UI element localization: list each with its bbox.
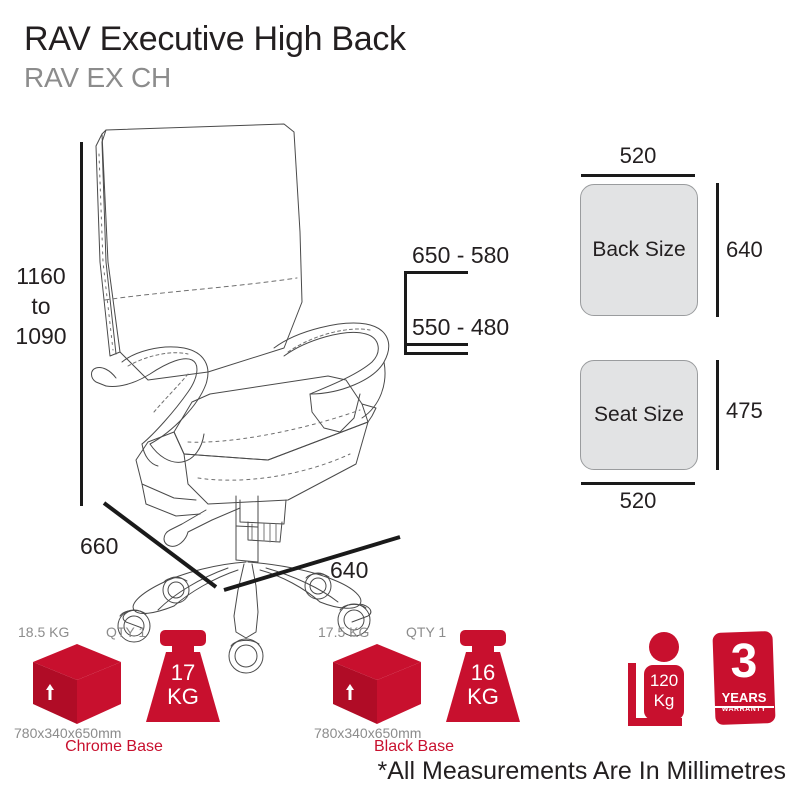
warranty-number: 3 xyxy=(714,638,774,686)
chrome-item-weight-unit: KG xyxy=(140,684,226,710)
model-code: RAV EX CH xyxy=(24,62,171,94)
height-value-line2: to xyxy=(8,293,74,320)
back-size-side-rule xyxy=(716,183,719,317)
black-item-weight-unit: KG xyxy=(440,684,526,710)
seat-size-bottom-dimension: 520 xyxy=(578,488,698,514)
seat-size-box: Seat Size xyxy=(580,360,698,470)
height-dimension-line xyxy=(80,142,83,506)
black-base-name: Black Base xyxy=(314,738,514,756)
seat-size-side-dimension: 475 xyxy=(726,398,763,424)
back-size-top-dimension: 520 xyxy=(578,143,698,169)
back-size-box: Back Size xyxy=(580,184,698,316)
seat-size-bottom-rule xyxy=(581,482,695,485)
seat-back-height-tick xyxy=(404,271,468,274)
seat-size-side-rule xyxy=(716,360,719,470)
seat-back-height-label: 650 - 580 xyxy=(412,242,509,269)
spec-sheet-page: RAV Executive High Back RAV EX CH 1160 t… xyxy=(0,0,800,800)
black-carton-weight: 17.5 KG xyxy=(318,624,369,640)
chrome-base-name: Chrome Base xyxy=(14,738,214,756)
packaging-group-black: 17.5 KG QTY 1 780x340x650mm 16 KG Black … xyxy=(314,622,534,752)
weight-capacity-badge: 120 Kg xyxy=(624,630,704,730)
measurements-footnote: *All Measurements Are In Millimetres xyxy=(0,757,786,786)
warranty-badge: 3 YEARS WARRANTY xyxy=(712,632,786,728)
page-title: RAV Executive High Back xyxy=(24,20,406,59)
depth-dimension-label: 660 xyxy=(80,533,118,560)
seat-size-label: Seat Size xyxy=(594,403,684,427)
back-size-label: Back Size xyxy=(592,238,685,262)
carton-box-icon xyxy=(332,644,422,724)
capacity-unit: Kg xyxy=(644,691,684,711)
packaging-group-chrome: 18.5 KG QTY 1 780x340x650mm 17 KG Chrome… xyxy=(14,622,234,752)
chrome-carton-weight: 18.5 KG xyxy=(18,624,69,640)
seat-height-base-tick xyxy=(404,352,468,355)
width-dimension-label: 640 xyxy=(330,557,368,584)
height-value-line3: 1090 xyxy=(8,323,74,350)
warranty-sub-label: WARRANTY xyxy=(714,706,774,713)
black-item-weight-number: 16 xyxy=(440,660,526,686)
seat-height-label: 550 - 480 xyxy=(412,314,509,341)
capacity-value: 120 xyxy=(644,671,684,691)
seat-height-tick xyxy=(404,343,468,346)
back-size-side-dimension: 640 xyxy=(726,237,763,263)
height-value-line1: 1160 xyxy=(8,263,74,290)
chrome-item-weight-number: 17 xyxy=(140,660,226,686)
carton-box-icon xyxy=(32,644,122,724)
back-size-top-rule xyxy=(581,174,695,177)
